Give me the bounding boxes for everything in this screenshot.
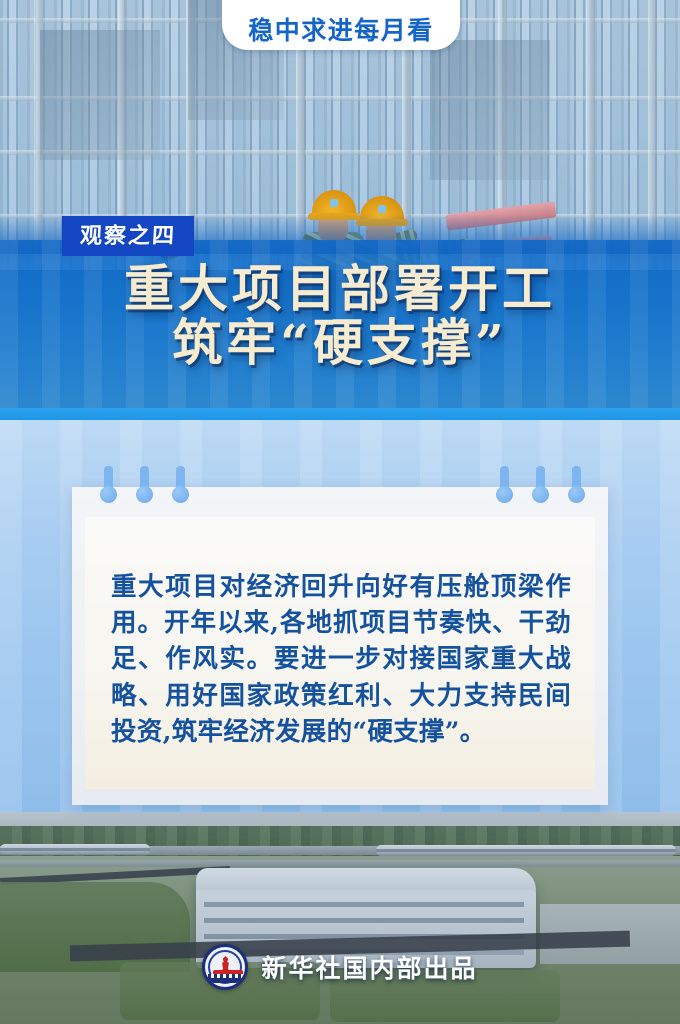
headline-line-2: 筑牢“硬支撑” xyxy=(0,315,680,371)
episode-ribbon-label: 观察之四 xyxy=(79,225,176,247)
summary-card-inner: 重大项目对经济回升向好有压舱顶梁作用。开年以来,各地抓项目节奏快、干劲足、作风实… xyxy=(85,517,595,789)
footer-credit: 新华社国内部出品 xyxy=(0,944,680,990)
series-banner-label: 稳中求进每月看 xyxy=(248,18,434,43)
summary-body-text: 重大项目对经济回升向好有压舱顶梁作用。开年以来,各地抓项目节奏快、干劲足、作风实… xyxy=(111,569,571,750)
xinhua-logo-icon xyxy=(202,944,248,990)
bottom-photo-railway-station xyxy=(0,812,680,1024)
headline-line-1: 重大项目部署开工 xyxy=(0,262,680,315)
poster-root: 稳中求进每月看 观察之四 重大项目部署开工 筑牢“硬支撑” 重大项目对经济回升向… xyxy=(0,0,680,1024)
headline: 重大项目部署开工 筑牢“硬支撑” xyxy=(0,262,680,371)
episode-ribbon: 观察之四 xyxy=(62,216,194,256)
series-banner: 稳中求进每月看 xyxy=(222,0,460,50)
summary-card: 重大项目对经济回升向好有压舱顶梁作用。开年以来,各地抓项目节奏快、干劲足、作风实… xyxy=(72,487,608,805)
footer-credit-label: 新华社国内部出品 xyxy=(261,949,477,985)
